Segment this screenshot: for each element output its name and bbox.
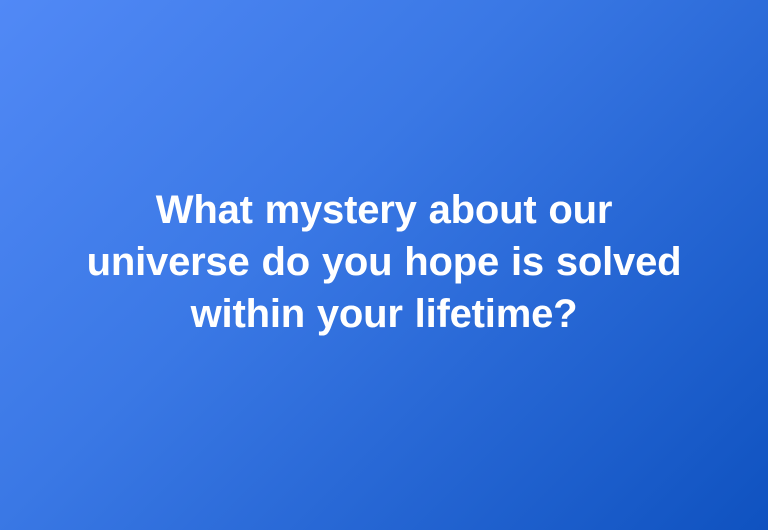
question-text-line-2: universe do you hope is solved [34, 236, 734, 288]
question-text: What mystery about our universe do you h… [34, 184, 734, 340]
quote-block: What mystery about our universe do you h… [34, 184, 734, 340]
question-text-line-1: What mystery about our [34, 184, 734, 236]
question-card: What mystery about our universe do you h… [0, 0, 768, 530]
question-text-line-3: within your lifetime? [34, 288, 734, 340]
